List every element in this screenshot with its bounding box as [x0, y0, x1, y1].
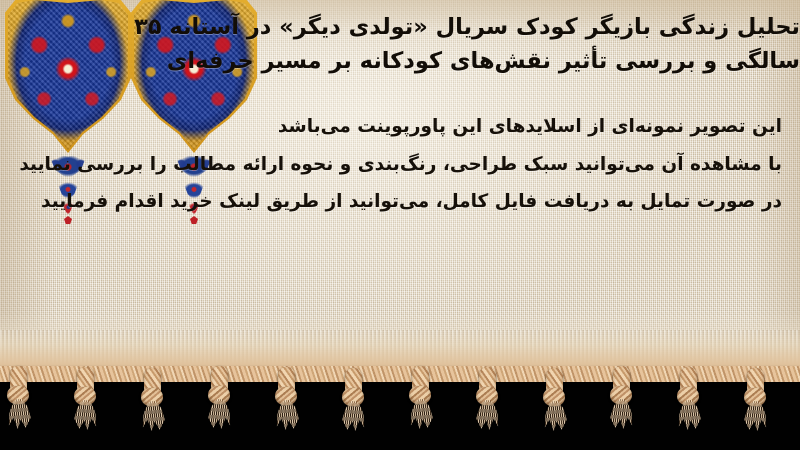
tassel-tuft — [340, 401, 368, 431]
fringe-tassel — [140, 368, 166, 430]
carpet-fringe — [0, 330, 800, 450]
tassel-tuft — [139, 401, 167, 431]
tassel-tuft — [675, 400, 703, 430]
slide-title: تحلیل زندگی بازیگر کودک سریال «تولدی دیگ… — [0, 10, 800, 78]
fringe-tassel — [609, 366, 635, 428]
fringe-tassel — [6, 366, 32, 428]
fringe-tassel — [743, 368, 769, 430]
fringe-tassel — [73, 367, 99, 429]
slide-body-line-3: در صورت تمایل به دریافت فایل کامل، می‌تو… — [0, 183, 782, 220]
slide-text-layer: تحلیل زندگی بازیگر کودک سریال «تولدی دیگ… — [0, 0, 800, 372]
fringe-tassel — [341, 368, 367, 430]
slide-canvas: تحلیل زندگی بازیگر کودک سریال «تولدی دیگ… — [0, 0, 800, 450]
slide-body-line-2: با مشاهده آن می‌توانید سبک طراحی، رنگ‌بن… — [0, 146, 782, 183]
tassel-tuft — [206, 399, 234, 429]
tassel-tuft — [5, 399, 33, 429]
fringe-tassel — [274, 367, 300, 429]
tassel-tuft — [742, 401, 770, 431]
tassel-tuft — [474, 400, 502, 430]
tassel-tuft — [608, 399, 636, 429]
tassel-tuft — [273, 400, 301, 430]
tassel-tuft — [72, 400, 100, 430]
fringe-tassel — [676, 367, 702, 429]
slide-body: این تصویر نمونه‌ای از اسلایدهای این پاور… — [0, 108, 800, 220]
slide-title-line-1: تحلیل زندگی بازیگر کودک سریال «تولدی دیگ… — [0, 10, 800, 44]
fringe-tassel — [207, 366, 233, 428]
fringe-tassel — [542, 368, 568, 430]
slide-title-line-2: سالگی و بررسی تأثیر نقش‌های کودکانه بر م… — [0, 44, 800, 78]
fringe-tassel — [475, 367, 501, 429]
fringe-tassel — [408, 366, 434, 428]
tassel-tuft — [407, 399, 435, 429]
tassel-tuft — [541, 401, 569, 431]
slide-body-line-1: این تصویر نمونه‌ای از اسلایدهای این پاور… — [0, 108, 782, 145]
